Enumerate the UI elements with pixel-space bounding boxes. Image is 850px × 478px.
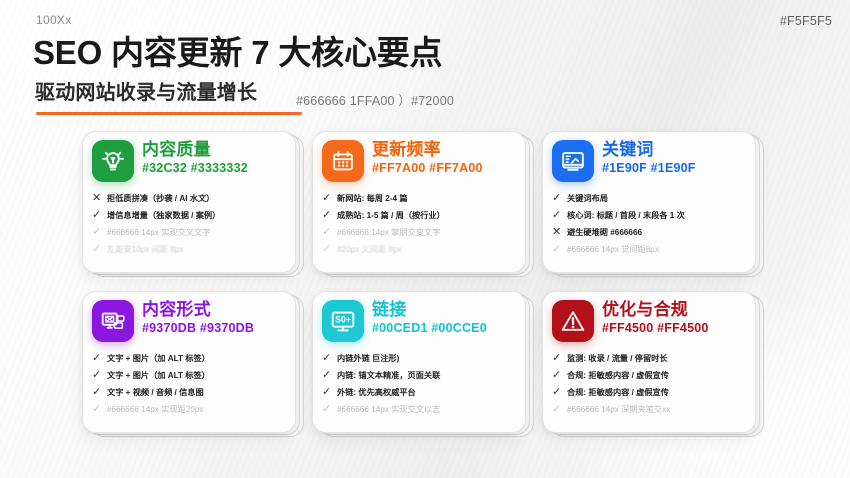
slide-header: 100Xx #F5F5F5 SEO 内容更新 7 大核心要点 驱动网站收录与流量…: [0, 0, 850, 118]
header-accent-rule: [36, 112, 302, 115]
card-bullet-item: ✓左距安10px 间距 8px: [92, 241, 286, 258]
card-inner: 更新频率#FF7A00 #FF7A00✓新网站: 每周 2-4 篇✓成熟站: 1…: [313, 132, 525, 272]
card-bullet-list: ✓新网站: 每周 2-4 篇✓成熟站: 1-5 篇 / 周（按行业）✓#6666…: [322, 190, 516, 258]
card-header: S0+链接#00CED1 #00CCE0: [322, 300, 516, 346]
card-bullet-item: ✓核心词: 标题 / 首段 / 末段各 1 次: [552, 207, 746, 224]
card-bullet-item: ✓文字 + 图片（加 ALT 标签）: [92, 350, 286, 367]
card-inner: 内容质量#32C32 #3333332✕拒低质拼凑（抄袭 / AI 水文）✓增信…: [83, 132, 295, 272]
card-title: 内容质量: [142, 140, 286, 160]
card-inner: 优化与合规#FF4500 #FF4500✓监测: 收录 / 流量 / 停留时长✓…: [543, 292, 755, 432]
card-bullet-list: ✓关键词布局✓核心词: 标题 / 首段 / 末段各 1 次✕避生硬堆砌 #666…: [552, 190, 746, 258]
media-screen-icon: [92, 300, 134, 342]
info-card[interactable]: 内容质量#32C32 #3333332✕拒低质拼凑（抄袭 / AI 水文）✓增信…: [82, 131, 296, 273]
check-icon: ✓: [552, 384, 562, 400]
check-icon: ✓: [552, 241, 562, 257]
card-bullet-text: 外链: 优先高权威平台: [337, 385, 416, 401]
chart-screen-icon: [552, 140, 594, 182]
card-color-codes: #9370DB #9370DB: [142, 321, 286, 336]
header-color-code-right: #F5F5F5: [780, 14, 832, 28]
card-bullet-text: 文字 + 图片（加 ALT 标签）: [107, 368, 210, 384]
info-card[interactable]: 关键词#1E90F #1E90F✓关键词布局✓核心词: 标题 / 首段 / 末段…: [542, 131, 756, 273]
card-bullet-text: #666666 14px 实现交叉文字: [107, 225, 210, 241]
check-icon: ✓: [322, 190, 332, 206]
card-header-text: 内容质量#32C32 #3333332: [142, 140, 286, 176]
card-title: 更新频率: [372, 140, 516, 160]
card-bullet-item: ✓监测: 收录 / 流量 / 停留时长: [552, 350, 746, 367]
check-icon: ✓: [322, 350, 332, 366]
check-icon: ✓: [322, 207, 332, 223]
card-2: 更新频率#FF7A00 #FF7A00✓新网站: 每周 2-4 篇✓成熟站: 1…: [312, 131, 536, 279]
card-bullet-item: ✓文字 + 视频 / 音频 / 信息图: [92, 384, 286, 401]
card-bullet-item: ✓#666666 14px 实现交文以志: [322, 401, 516, 418]
card-bullet-text: 避生硬堆砌 #666666: [567, 225, 642, 241]
card-bullet-text: #666666 14px 掌朋交变文字: [337, 225, 440, 241]
card-bullet-text: 文字 + 视频 / 音频 / 信息图: [107, 385, 204, 401]
card-header: 内容形式#9370DB #9370DB: [92, 300, 286, 346]
card-inner: 关键词#1E90F #1E90F✓关键词布局✓核心词: 标题 / 首段 / 末段…: [543, 132, 755, 272]
card-bullet-item: ✓#666666 14px 深期夹笔交xx: [552, 401, 746, 418]
card-bullet-item: ✓#20px 义间距 8px: [322, 241, 516, 258]
card-bullet-list: ✕拒低质拼凑（抄袭 / AI 水文）✓增信息增量（独家数据 / 案例）✓#666…: [92, 190, 286, 258]
card-bullet-text: 合规: 拒敏感内容 / 虚假宣传: [567, 385, 669, 401]
card-title: 优化与合规: [602, 300, 746, 320]
check-icon: ✓: [552, 350, 562, 366]
card-bullet-list: ✓监测: 收录 / 流量 / 停留时长✓合规: 拒敏感内容 / 虚假宣传✓合规:…: [552, 350, 746, 418]
card-bullet-text: 合规: 拒敏感内容 / 虚假宣传: [567, 368, 669, 384]
card-bullet-text: #666666 14px 觉间距8px: [567, 242, 659, 258]
card-bullet-text: 增信息增量（独家数据 / 案例）: [107, 208, 220, 224]
card-bullet-item: ✓#666666 14px 实现距20px: [92, 401, 286, 418]
card-6: 优化与合规#FF4500 #FF4500✓监测: 收录 / 流量 / 停留时长✓…: [542, 291, 766, 439]
warning-triangle-icon: [552, 300, 594, 342]
check-icon: ✓: [92, 224, 102, 240]
card-header: 关键词#1E90F #1E90F: [552, 140, 746, 186]
card-bullet-list: ✓内链外链 巨注形)✓内链: 锚文本精准，页面关联✓外链: 优先高权威平台✓#6…: [322, 350, 516, 418]
check-icon: ✓: [92, 384, 102, 400]
page-title: SEO 内容更新 7 大核心要点: [33, 26, 442, 74]
info-card[interactable]: S0+链接#00CED1 #00CCE0✓内链外链 巨注形)✓内链: 锚文本精准…: [312, 291, 526, 433]
card-title: 关键词: [602, 140, 746, 160]
check-icon: ✓: [92, 401, 102, 417]
card-color-codes: #FF7A00 #FF7A00: [372, 161, 516, 176]
check-icon: ✓: [322, 367, 332, 383]
card-bullet-item: ✓合规: 拒敏感内容 / 虚假宣传: [552, 367, 746, 384]
card-title: 链接: [372, 300, 516, 320]
check-icon: ✓: [92, 241, 102, 257]
header-color-codes: #666666 1FFA00 ）#72000: [296, 90, 454, 109]
check-icon: ✓: [92, 367, 102, 383]
card-inner: 内容形式#9370DB #9370DB✓文字 + 图片（加 ALT 标签）✓文字…: [83, 292, 295, 432]
card-bullet-text: 关键词布局: [567, 191, 608, 207]
card-1: 内容质量#32C32 #3333332✕拒低质拼凑（抄袭 / AI 水文）✓增信…: [82, 131, 306, 279]
check-icon: ✓: [552, 207, 562, 223]
card-bullet-text: 核心词: 标题 / 首段 / 末段各 1 次: [567, 208, 685, 224]
svg-text:S0+: S0+: [335, 315, 351, 325]
card-4: 内容形式#9370DB #9370DB✓文字 + 图片（加 ALT 标签）✓文字…: [82, 291, 306, 439]
card-bullet-text: 文字 + 图片（加 ALT 标签）: [107, 351, 210, 367]
card-bullet-item: ✓新网站: 每周 2-4 篇: [322, 190, 516, 207]
header-kicker: 100Xx: [36, 13, 72, 27]
card-bullet-text: 拒低质拼凑（抄袭 / AI 水文）: [107, 191, 214, 207]
check-icon: ✓: [322, 241, 332, 257]
check-icon: ✓: [552, 367, 562, 383]
card-header-text: 关键词#1E90F #1E90F: [602, 140, 746, 176]
card-bullet-item: ✓内链外链 巨注形): [322, 350, 516, 367]
card-header: 内容质量#32C32 #3333332: [92, 140, 286, 186]
card-header: 优化与合规#FF4500 #FF4500: [552, 300, 746, 346]
seo-monitor-icon: S0+: [322, 300, 364, 342]
card-bullet-text: 左距安10px 间距 8px: [107, 242, 183, 258]
page-subtitle: 驱动网站收录与流量增长: [35, 76, 257, 105]
card-bullet-text: 内链外链 巨注形): [337, 351, 399, 367]
cross-icon: ✕: [552, 224, 562, 240]
card-bullet-item: ✓文字 + 图片（加 ALT 标签）: [92, 367, 286, 384]
cards-grid: 内容质量#32C32 #3333332✕拒低质拼凑（抄袭 / AI 水文）✓增信…: [82, 131, 782, 451]
card-color-codes: #32C32 #3333332: [142, 161, 286, 176]
card-bullet-text: 监测: 收录 / 流量 / 停留时长: [567, 351, 668, 367]
lightbulb-icon: [92, 140, 134, 182]
card-color-codes: #1E90F #1E90F: [602, 161, 746, 176]
card-bullet-item: ✓#666666 14px 实现交叉文字: [92, 224, 286, 241]
card-header-text: 更新频率#FF7A00 #FF7A00: [372, 140, 516, 176]
card-bullet-text: #666666 14px 实现距20px: [107, 402, 204, 418]
card-bullet-item: ✓合规: 拒敏感内容 / 虚假宣传: [552, 384, 746, 401]
card-bullet-item: ✓增信息增量（独家数据 / 案例）: [92, 207, 286, 224]
card-header-text: 链接#00CED1 #00CCE0: [372, 300, 516, 336]
card-bullet-text: 新网站: 每周 2-4 篇: [337, 191, 408, 207]
check-icon: ✓: [92, 350, 102, 366]
card-bullet-item: ✕避生硬堆砌 #666666: [552, 224, 746, 241]
card-bullet-item: ✓#666666 14px 觉间距8px: [552, 241, 746, 258]
card-color-codes: #00CED1 #00CCE0: [372, 321, 516, 336]
card-bullet-item: ✓内链: 锚文本精准，页面关联: [322, 367, 516, 384]
card-bullet-item: ✓外链: 优先高权威平台: [322, 384, 516, 401]
check-icon: ✓: [322, 224, 332, 240]
cross-icon: ✕: [92, 190, 102, 206]
card-bullet-text: #666666 14px 深期夹笔交xx: [567, 402, 670, 418]
check-icon: ✓: [92, 207, 102, 223]
calendar-icon: [322, 140, 364, 182]
check-icon: ✓: [322, 384, 332, 400]
card-inner: S0+链接#00CED1 #00CCE0✓内链外链 巨注形)✓内链: 锚文本精准…: [313, 292, 525, 432]
card-header: 更新频率#FF7A00 #FF7A00: [322, 140, 516, 186]
card-bullet-list: ✓文字 + 图片（加 ALT 标签）✓文字 + 图片（加 ALT 标签）✓文字 …: [92, 350, 286, 418]
card-bullet-item: ✓#666666 14px 掌朋交变文字: [322, 224, 516, 241]
card-header-text: 内容形式#9370DB #9370DB: [142, 300, 286, 336]
card-header-text: 优化与合规#FF4500 #FF4500: [602, 300, 746, 336]
info-card[interactable]: 内容形式#9370DB #9370DB✓文字 + 图片（加 ALT 标签）✓文字…: [82, 291, 296, 433]
check-icon: ✓: [322, 401, 332, 417]
card-bullet-text: 成熟站: 1-5 篇 / 周（按行业）: [337, 208, 445, 224]
card-bullet-item: ✓关键词布局: [552, 190, 746, 207]
info-card[interactable]: 优化与合规#FF4500 #FF4500✓监测: 收录 / 流量 / 停留时长✓…: [542, 291, 756, 433]
check-icon: ✓: [552, 401, 562, 417]
card-bullet-item: ✕拒低质拼凑（抄袭 / AI 水文）: [92, 190, 286, 207]
info-card[interactable]: 更新频率#FF7A00 #FF7A00✓新网站: 每周 2-4 篇✓成熟站: 1…: [312, 131, 526, 273]
check-icon: ✓: [552, 190, 562, 206]
card-bullet-text: #666666 14px 实现交文以志: [337, 402, 440, 418]
card-bullet-text: 内链: 锚文本精准，页面关联: [337, 368, 440, 384]
card-title: 内容形式: [142, 300, 286, 320]
card-bullet-item: ✓成熟站: 1-5 篇 / 周（按行业）: [322, 207, 516, 224]
card-3: 关键词#1E90F #1E90F✓关键词布局✓核心词: 标题 / 首段 / 末段…: [542, 131, 766, 279]
card-color-codes: #FF4500 #FF4500: [602, 321, 746, 336]
card-5: S0+链接#00CED1 #00CCE0✓内链外链 巨注形)✓内链: 锚文本精准…: [312, 291, 536, 439]
card-bullet-text: #20px 义间距 8px: [337, 242, 402, 258]
